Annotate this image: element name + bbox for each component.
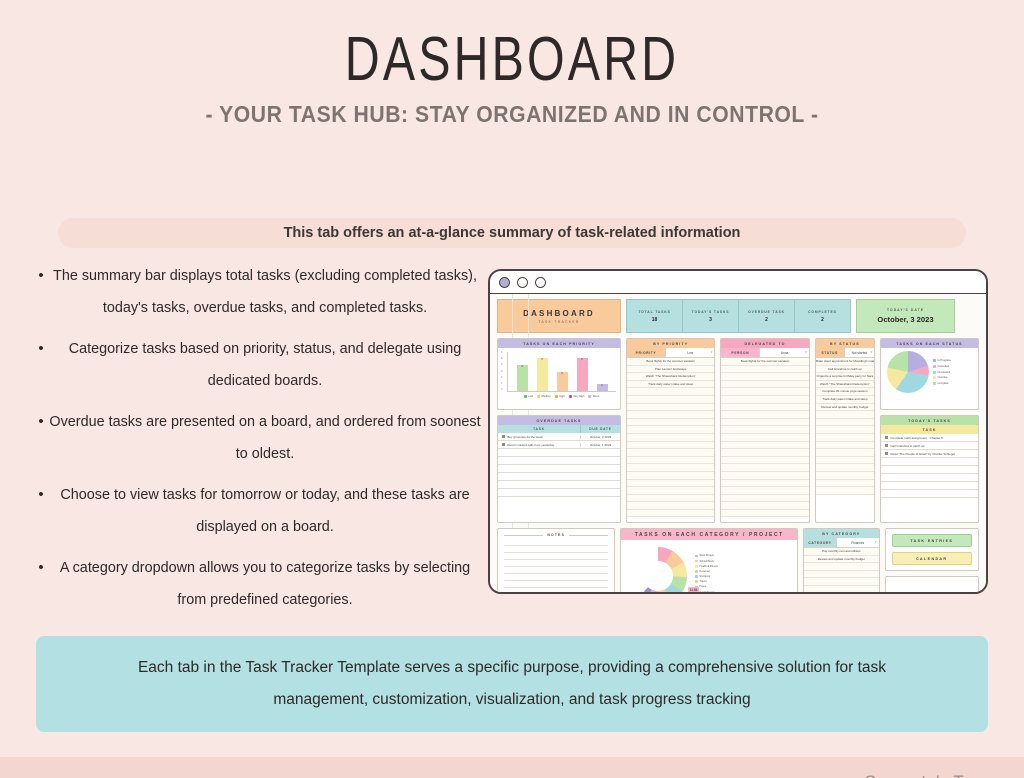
list-item: • Categorize tasks based on priority, st… bbox=[34, 333, 482, 397]
notes-title: NOTES bbox=[547, 533, 565, 537]
overdue-tasks-card: OVERDUE TASKS TASK DUE DATE Buy grocerie… bbox=[497, 415, 621, 523]
list-item: • The summary bar displays total tasks (… bbox=[34, 260, 482, 324]
summary-cell-overdue: OVERDUE TASK 2 bbox=[739, 300, 795, 332]
summary-label: OVERDUE TASK bbox=[748, 310, 785, 314]
table-row bbox=[881, 466, 978, 474]
list-row: Book flights for the summer vacation bbox=[627, 358, 714, 366]
legend-item: High bbox=[555, 395, 565, 398]
list-row bbox=[721, 487, 808, 495]
bar-value: 5 bbox=[537, 357, 548, 361]
todays-tasks-column: TASK bbox=[881, 425, 978, 434]
todays-date-value: October, 3 2023 bbox=[877, 315, 933, 324]
list-row bbox=[816, 480, 874, 488]
legend-item: Health & Fitness bbox=[695, 565, 717, 568]
spreadsheet-canvas: DASHBOARD TASK TRACKER TOTAL TASKS 18 TO… bbox=[490, 294, 986, 592]
list-row bbox=[816, 426, 874, 434]
summary-cell-today: TODAY'S TASKS 3 bbox=[683, 300, 739, 332]
status-pie-chart: In Progress Cancelled Not started Overdu… bbox=[881, 348, 978, 393]
action-buttons-card: TASK ENTRIES CALENDAR bbox=[885, 528, 979, 571]
notes-card: NOTES bbox=[497, 528, 615, 594]
left-panel-column: TASKS ON EACH PRIORITY 6 5 4 3 2 1 0 bbox=[497, 338, 621, 523]
list-row bbox=[721, 381, 808, 389]
list-row bbox=[721, 449, 808, 457]
table-row bbox=[498, 465, 620, 473]
by-priority-list: Book flights for the summer vacation Pla… bbox=[627, 358, 714, 517]
list-row bbox=[721, 510, 808, 518]
list-row bbox=[627, 419, 714, 427]
by-category-title: BY CATEGORY bbox=[804, 529, 878, 538]
summary-value: 2 bbox=[765, 317, 768, 323]
legend-item: Low bbox=[524, 395, 533, 398]
priority-filter-label: PRIORITY bbox=[627, 348, 665, 357]
list-row bbox=[721, 426, 808, 434]
list-row bbox=[816, 411, 874, 419]
legend-item: In Progress bbox=[933, 359, 951, 362]
list-row bbox=[816, 449, 874, 457]
bullet-marker-icon: • bbox=[34, 479, 48, 511]
overdue-table-header: TASK DUE DATE bbox=[498, 425, 620, 433]
sheet-row-2: TASKS ON EACH PRIORITY 6 5 4 3 2 1 0 bbox=[497, 338, 979, 523]
priority-filter-select[interactable]: Low bbox=[665, 348, 714, 357]
category-filter-row[interactable]: CATEGORY Finances bbox=[804, 538, 878, 548]
table-row: Complete math assignment - Chapter 5 bbox=[881, 434, 978, 442]
todays-date-card: TODAY'S DATE October, 3 2023 bbox=[856, 299, 955, 333]
list-row bbox=[804, 571, 878, 579]
list-row: Watch "The Shawshank Redemption" bbox=[627, 373, 714, 381]
table-row bbox=[498, 449, 620, 457]
list-row bbox=[627, 426, 714, 434]
list-item: • A category dropdown allows you to cate… bbox=[34, 552, 482, 616]
window-maximize-icon[interactable] bbox=[535, 277, 546, 288]
table-row bbox=[881, 458, 978, 466]
y-tick: 3 bbox=[501, 371, 502, 374]
bar-value: 5 bbox=[577, 357, 588, 361]
list-row bbox=[804, 578, 878, 586]
summary-bar: TOTAL TASKS 18 TODAY'S TASKS 3 OVERDUE T… bbox=[626, 299, 851, 333]
chart-legend: Low Medium High Very High Done bbox=[507, 395, 616, 398]
notes-header: NOTES bbox=[498, 529, 614, 539]
table-row bbox=[881, 490, 978, 498]
list-row bbox=[627, 502, 714, 510]
feature-bullet-list: • The summary bar displays total tasks (… bbox=[34, 260, 482, 625]
summary-value: 2 bbox=[821, 317, 824, 323]
legend-item: Overdue bbox=[933, 376, 951, 379]
pie-graphic bbox=[887, 351, 929, 393]
list-row bbox=[627, 495, 714, 503]
list-item: • Overdue tasks are presented on a board… bbox=[34, 406, 482, 470]
browser-titlebar bbox=[490, 271, 986, 294]
bullet-marker-icon: • bbox=[34, 406, 48, 438]
dashboard-title-card: DASHBOARD TASK TRACKER bbox=[497, 299, 621, 333]
list-item-text: A category dropdown allows you to catego… bbox=[48, 552, 482, 616]
window-minimize-icon[interactable] bbox=[517, 277, 528, 288]
list-row: Make client appointment for Moulding's m… bbox=[816, 358, 874, 366]
status-pie-title: TASKS ON EACH STATUS bbox=[881, 339, 978, 348]
list-row bbox=[627, 411, 714, 419]
legend-item: Work Project bbox=[695, 554, 717, 557]
list-row bbox=[721, 480, 808, 488]
page-subtitle: - YOUR TASK HUB: STAY ORGANIZED AND IN C… bbox=[41, 101, 983, 128]
by-category-list: Pay monthly rent and utilities Review an… bbox=[804, 548, 878, 594]
category-donut-chart: 7.69 11.54 Work Project School/Study Hea… bbox=[621, 540, 797, 594]
delegated-to-title: DELEGATED TO bbox=[721, 339, 808, 348]
bullet-marker-icon: • bbox=[34, 333, 48, 365]
right-panel-column: TASKS ON EACH STATUS In Progress Cancell… bbox=[880, 338, 979, 523]
footer-banner: Each tab in the Task Tracker Template se… bbox=[36, 636, 988, 732]
list-row bbox=[804, 586, 878, 594]
list-row bbox=[816, 464, 874, 472]
summary-cell-total: TOTAL TASKS 18 bbox=[627, 300, 683, 332]
list-row bbox=[627, 442, 714, 450]
by-status-title: BY STATUS bbox=[816, 339, 874, 348]
y-tick: 6 bbox=[501, 352, 502, 355]
window-close-icon[interactable] bbox=[499, 277, 510, 288]
priority-bar-chart-card: TASKS ON EACH PRIORITY 6 5 4 3 2 1 0 bbox=[497, 338, 621, 410]
list-row bbox=[627, 404, 714, 412]
legend-item: Shopping bbox=[695, 575, 717, 578]
legend-item: Complete bbox=[933, 382, 951, 385]
bar: 3 bbox=[557, 372, 568, 392]
chart-y-axis: 6 5 4 3 2 1 0 bbox=[501, 352, 502, 392]
summary-label: TODAY'S TASKS bbox=[692, 310, 730, 314]
y-tick: 2 bbox=[501, 377, 502, 380]
list-item-text: Categorize tasks based on priority, stat… bbox=[48, 333, 482, 397]
checkbox-icon[interactable] bbox=[885, 444, 888, 447]
legend-item: School/Study bbox=[695, 560, 717, 563]
delegated-to-card: DELEGATED TO PERSON Anna Book flights fo… bbox=[720, 338, 809, 523]
summary-banner-text: This tab offers an at-a-glance summary o… bbox=[284, 225, 741, 241]
due-date-cell: October, 2 2023 bbox=[580, 435, 620, 439]
legend-item: Personal bbox=[695, 570, 717, 573]
list-row: Pay monthly rent and utilities bbox=[804, 548, 878, 556]
bar-value: 1 bbox=[597, 383, 608, 387]
sheet-row-1: DASHBOARD TASK TRACKER TOTAL TASKS 18 TO… bbox=[497, 299, 979, 333]
list-row bbox=[816, 487, 874, 495]
list-row bbox=[627, 388, 714, 396]
list-row bbox=[721, 457, 808, 465]
list-row bbox=[627, 510, 714, 518]
table-row bbox=[881, 482, 978, 490]
calendar-button[interactable]: CALENDAR bbox=[892, 552, 972, 565]
table-row bbox=[498, 489, 620, 497]
y-tick: 0 bbox=[501, 389, 502, 392]
list-row bbox=[721, 464, 808, 472]
checkbox-icon[interactable] bbox=[885, 436, 888, 439]
list-row bbox=[721, 495, 808, 503]
overdue-title: OVERDUE TASKS bbox=[498, 416, 620, 425]
list-row bbox=[721, 404, 808, 412]
bar: 5 bbox=[537, 358, 548, 391]
priority-bar-chart: 6 5 4 3 2 1 0 4 5 3 bbox=[498, 348, 620, 404]
table-row: Call Grandma to catch up bbox=[881, 442, 978, 450]
todays-tasks-card: TODAY'S TASKS TASK Complete math assignm… bbox=[880, 415, 979, 523]
list-row bbox=[627, 487, 714, 495]
list-row: Track daily water intake and sleep bbox=[816, 396, 874, 404]
legend-item: Travel bbox=[695, 580, 717, 583]
person-filter-select[interactable]: Anna bbox=[759, 348, 808, 357]
summary-label: COMPLETED bbox=[808, 310, 837, 314]
list-row bbox=[627, 480, 714, 488]
legend-item: Done bbox=[588, 395, 599, 398]
page-title: DASHBOARD bbox=[113, 24, 912, 95]
by-priority-card: BY PRIORITY PRIORITY Low Book flights fo… bbox=[626, 338, 715, 523]
summary-banner: This tab offers an at-a-glance summary o… bbox=[58, 218, 966, 248]
bullet-marker-icon: • bbox=[34, 552, 48, 584]
pie-legend: In Progress Cancelled Not started Overdu… bbox=[933, 359, 951, 384]
list-row bbox=[627, 472, 714, 480]
table-row: Read "The People of Israel" by Charles S… bbox=[881, 450, 978, 458]
footer-credit: Serenata's Team bbox=[865, 772, 996, 778]
summary-label: TOTAL TASKS bbox=[638, 310, 670, 314]
legend-item: Cancelled bbox=[933, 365, 951, 368]
bullet-marker-icon: • bbox=[34, 260, 48, 292]
person-filter-label: PERSON bbox=[721, 348, 759, 357]
list-row: Watch "The Shawshank Redemption" bbox=[816, 381, 874, 389]
list-item-text: The summary bar displays total tasks (ex… bbox=[48, 260, 482, 324]
legend-item: Medium bbox=[537, 395, 551, 398]
table-row bbox=[881, 474, 978, 482]
y-tick: 5 bbox=[501, 358, 502, 361]
list-row bbox=[721, 396, 808, 404]
summary-value: 18 bbox=[652, 317, 658, 323]
by-status-card: BY STATUS STATUS Not started Make client… bbox=[815, 338, 875, 523]
donut-label: 7.69 bbox=[623, 593, 633, 594]
list-row bbox=[627, 396, 714, 404]
status-filter-select[interactable]: Not started bbox=[844, 348, 874, 357]
empty-panel bbox=[885, 576, 979, 594]
by-status-list: Make client appointment for Moulding's m… bbox=[816, 358, 874, 495]
todays-tasks-title: TODAY'S TASKS bbox=[881, 416, 978, 425]
list-row bbox=[627, 449, 714, 457]
category-filter-label: CATEGORY bbox=[804, 538, 836, 547]
table-row bbox=[498, 457, 620, 465]
list-item-text: Overdue tasks are presented on a board, … bbox=[48, 406, 482, 470]
status-filter-row[interactable]: STATUS Not started bbox=[816, 348, 874, 358]
list-row bbox=[627, 457, 714, 465]
list-row bbox=[721, 419, 808, 427]
list-row bbox=[721, 388, 808, 396]
list-row bbox=[816, 419, 874, 427]
table-row bbox=[498, 481, 620, 489]
dashboard-subtitle: TASK TRACKER bbox=[538, 320, 579, 324]
list-row bbox=[721, 502, 808, 510]
checkbox-icon[interactable] bbox=[885, 452, 888, 455]
chart-bars: 4 5 3 5 1 bbox=[507, 352, 616, 392]
table-row: Return missed calls from yesterday Octob… bbox=[498, 441, 620, 449]
summary-value: 3 bbox=[709, 317, 712, 323]
footer-banner-line-1: Each tab in the Task Tracker Template se… bbox=[138, 659, 886, 677]
status-filter-label: STATUS bbox=[816, 348, 844, 357]
list-row bbox=[721, 411, 808, 419]
bar-value: 3 bbox=[557, 371, 568, 375]
legend-item: Very High bbox=[569, 395, 585, 398]
list-row bbox=[816, 472, 874, 480]
list-row: Review and update monthly budget bbox=[816, 404, 874, 412]
bar: 5 bbox=[577, 358, 588, 391]
list-row bbox=[721, 442, 808, 450]
list-row: Complete 30-minute yoga session bbox=[816, 388, 874, 396]
y-tick: 4 bbox=[501, 364, 502, 367]
checkbox-icon[interactable] bbox=[502, 435, 505, 438]
list-row: Call Grandma to catch up bbox=[816, 366, 874, 374]
list-row bbox=[816, 442, 874, 450]
sheet-row-3: NOTES TASKS ON EACH CATEGORY / PROJECT 7… bbox=[497, 528, 979, 594]
list-row: Organize a surprise birthday party for S… bbox=[816, 373, 874, 381]
person-filter-row[interactable]: PERSON Anna bbox=[721, 348, 808, 358]
list-row bbox=[721, 434, 808, 442]
status-pie-card: TASKS ON EACH STATUS In Progress Cancell… bbox=[880, 338, 979, 410]
dashboard-title: DASHBOARD bbox=[523, 309, 595, 318]
bar: 1 bbox=[597, 384, 608, 391]
task-entries-button[interactable]: TASK ENTRIES bbox=[892, 534, 972, 547]
legend-item: Not started bbox=[933, 371, 951, 374]
bar: 4 bbox=[517, 365, 528, 391]
list-row: Plan Laurent landscape bbox=[627, 366, 714, 374]
category-filter-select[interactable]: Finances bbox=[836, 538, 878, 547]
list-row bbox=[627, 464, 714, 472]
list-row: Book flights for the summer vacation bbox=[721, 358, 808, 366]
list-row bbox=[804, 563, 878, 571]
action-buttons-column: TASK ENTRIES CALENDAR bbox=[885, 528, 979, 594]
list-row: Review and update monthly budget bbox=[804, 556, 878, 564]
category-donut-title: TASKS ON EACH CATEGORY / PROJECT bbox=[621, 529, 797, 540]
todays-date-label: TODAY'S DATE bbox=[887, 308, 924, 312]
list-row bbox=[816, 457, 874, 465]
by-priority-title: BY PRIORITY bbox=[627, 339, 714, 348]
bar-value: 4 bbox=[517, 364, 528, 368]
list-item: • Choose to view tasks for tomorrow or t… bbox=[34, 479, 482, 543]
table-row: Buy groceries for the week October, 2 20… bbox=[498, 433, 620, 441]
due-date-cell: October, 1 2023 bbox=[580, 443, 620, 447]
list-row bbox=[721, 366, 808, 374]
list-row bbox=[721, 472, 808, 480]
donut-graphic: 7.69 11.54 bbox=[629, 547, 687, 594]
priority-chart-title: TASKS ON EACH PRIORITY bbox=[498, 339, 620, 348]
by-category-card: BY CATEGORY CATEGORY Finances Pay monthl… bbox=[803, 528, 879, 594]
priority-filter-row[interactable]: PRIORITY Low bbox=[627, 348, 714, 358]
column-header-due-date: DUE DATE bbox=[580, 425, 620, 433]
list-row: Track daily water intake and sleep bbox=[627, 381, 714, 389]
donut-label: 11.54 bbox=[688, 587, 700, 593]
summary-cell-completed: COMPLETED 2 bbox=[795, 300, 850, 332]
checkbox-icon[interactable] bbox=[502, 443, 505, 446]
column-header-task: TASK bbox=[498, 425, 580, 433]
y-tick: 1 bbox=[501, 383, 502, 386]
browser-mockup: DASHBOARD TASK TRACKER TOTAL TASKS 18 TO… bbox=[488, 269, 988, 594]
footer-banner-line-2: management, customization, visualization… bbox=[273, 691, 750, 709]
table-row bbox=[498, 473, 620, 481]
delegated-to-list: Book flights for the summer vacation bbox=[721, 358, 808, 517]
list-row bbox=[721, 373, 808, 381]
list-row bbox=[627, 434, 714, 442]
list-row bbox=[816, 434, 874, 442]
poster-page: DASHBOARD - YOUR TASK HUB: STAY ORGANIZE… bbox=[0, 24, 1024, 778]
list-item-text: Choose to view tasks for tomorrow or tod… bbox=[48, 479, 482, 543]
category-donut-card: TASKS ON EACH CATEGORY / PROJECT 7.69 11… bbox=[620, 528, 798, 594]
